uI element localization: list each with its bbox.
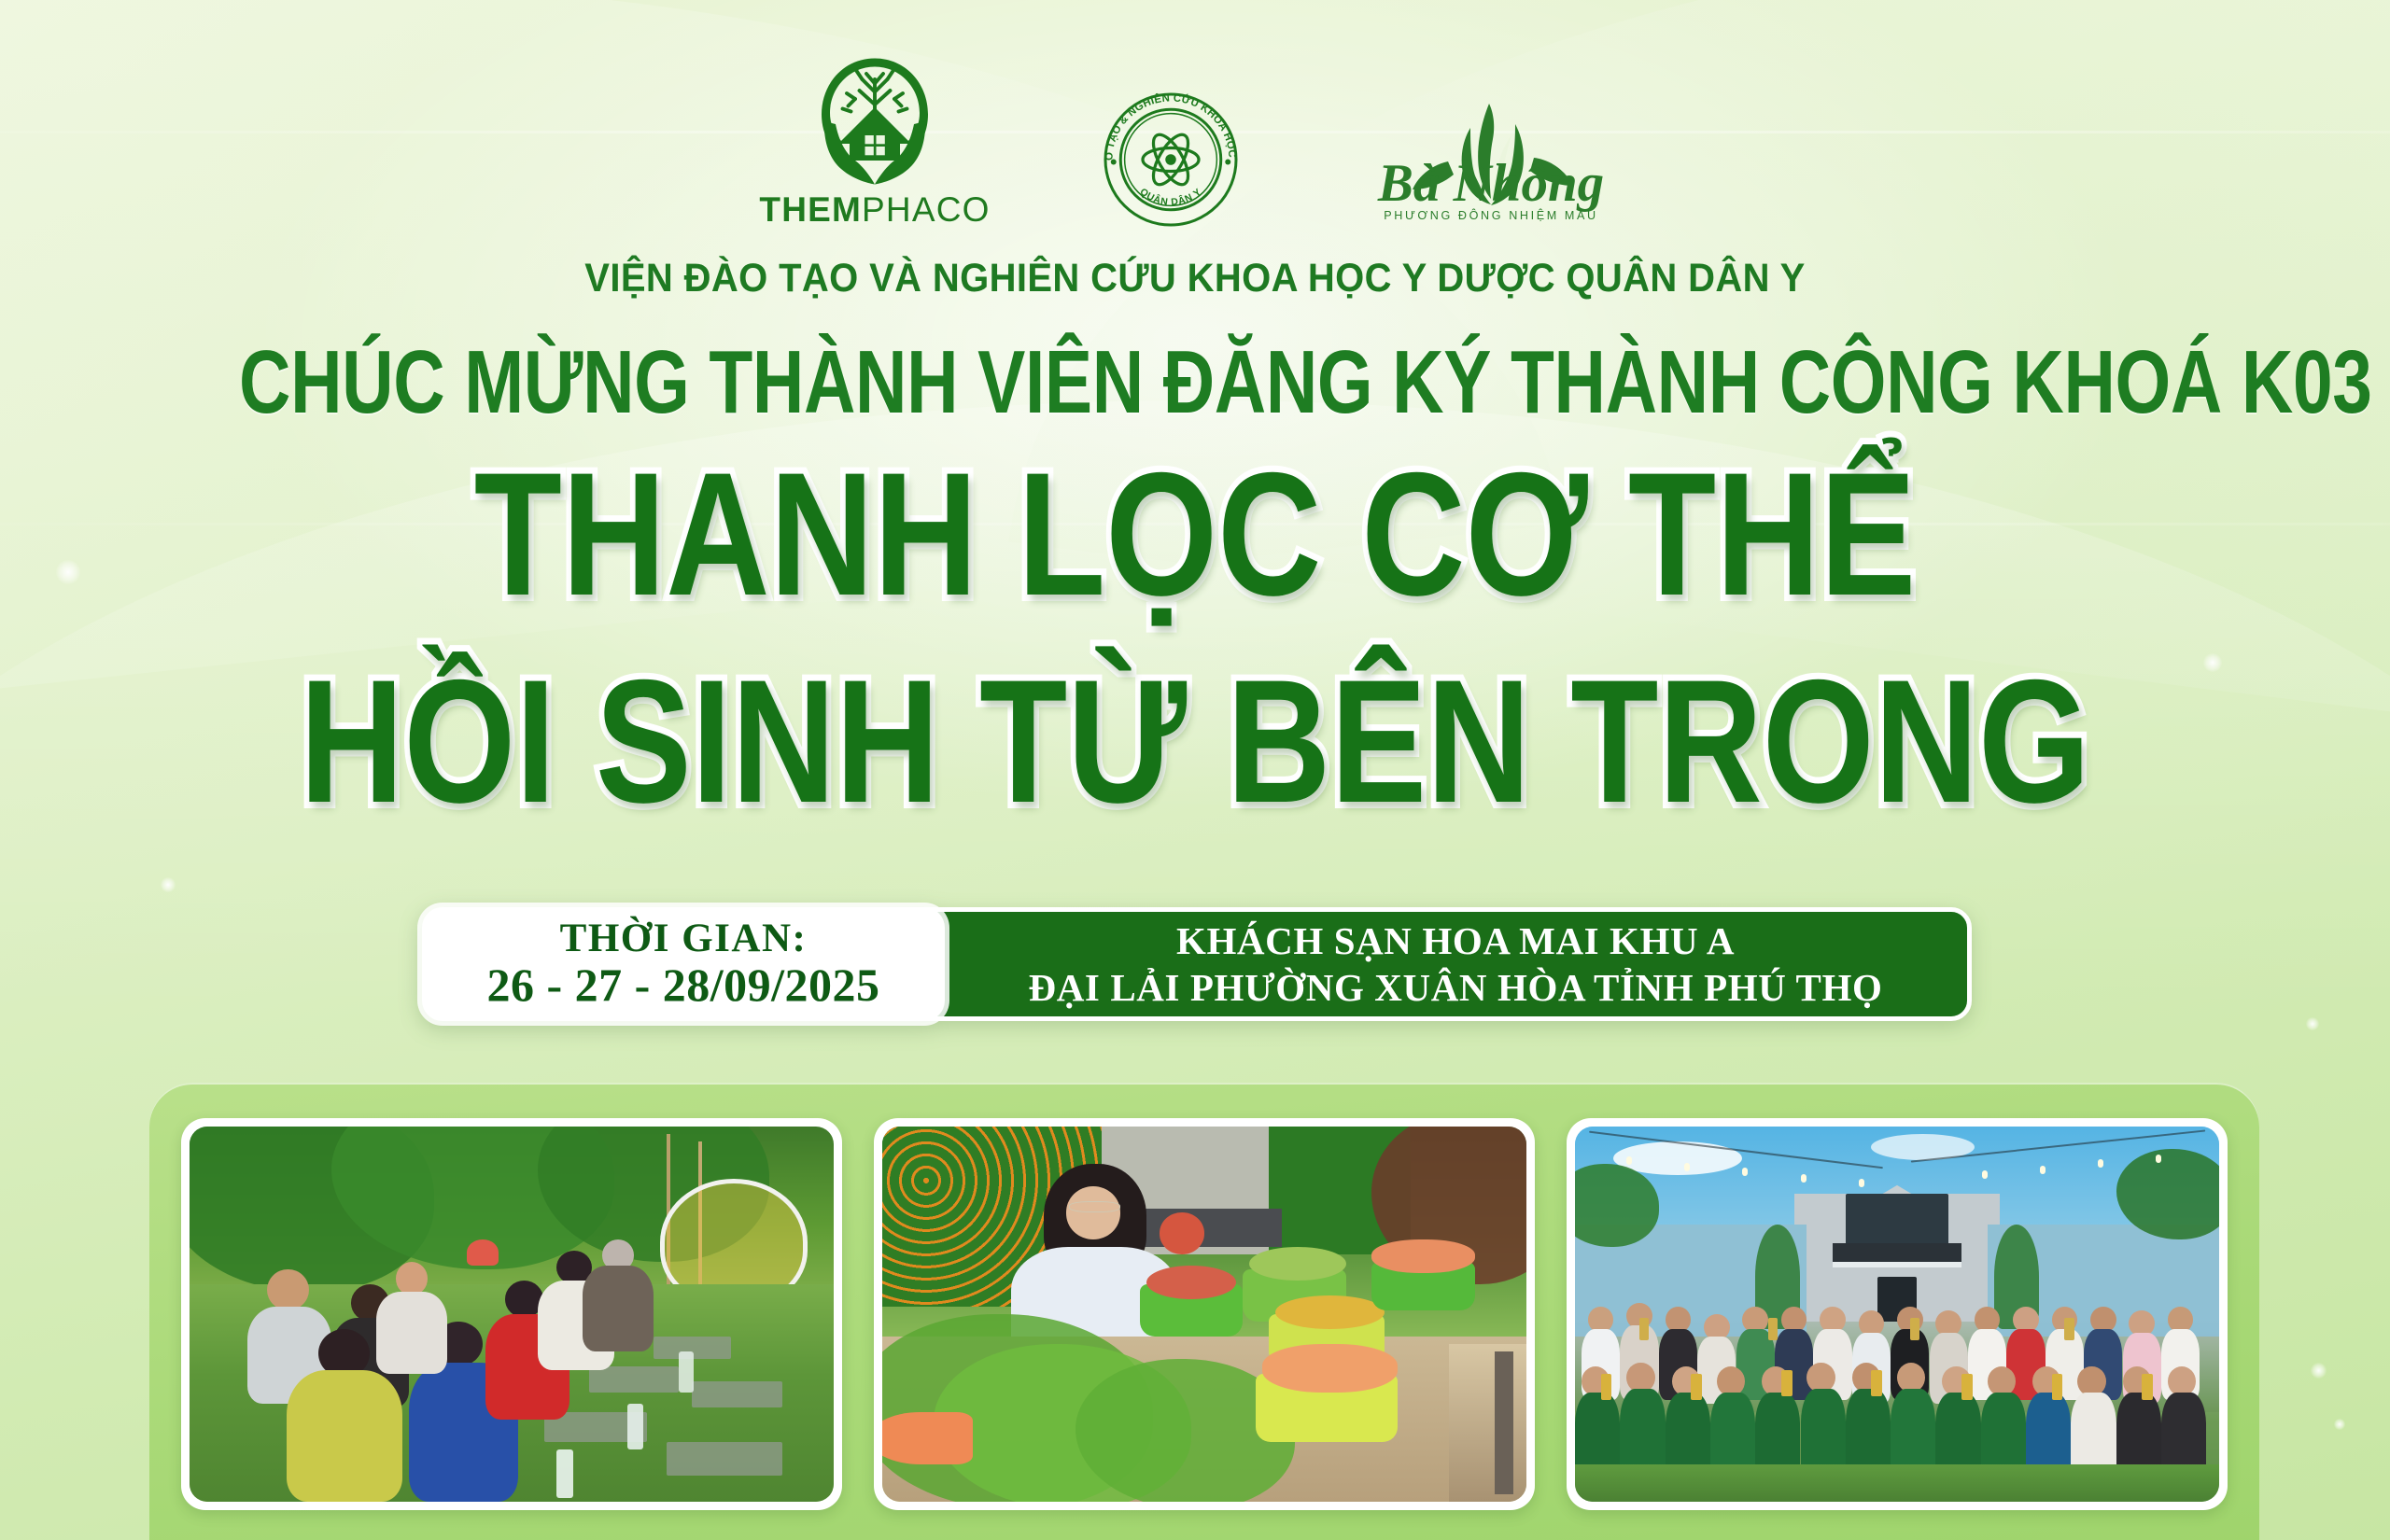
photo-fresh-produce-image: [882, 1127, 1526, 1502]
sparkle-icon: [2311, 1363, 2327, 1379]
main-headline-line2: HỒI SINH TỪ BÊN TRONG: [215, 653, 2174, 829]
poster-canvas: THEMPHACO VIỆN ĐÀO TẠO & NGHIÊN CỨU KHOA…: [0, 0, 2390, 1540]
venue-line-2: ĐẠI LẢI PHƯỜNG XUÂN HÒA TỈNH PHÚ THỌ: [1029, 964, 1883, 1011]
tree-house-in-hands-icon: [805, 49, 945, 189]
photo-fresh-produce: [874, 1118, 1535, 1510]
sparkle-icon: [2334, 1419, 2345, 1430]
sparkle-icon: [56, 560, 80, 584]
institute-name-line: VIỆN ĐÀO TẠO VÀ NGHIÊN CỨU KHOA HỌC Y DƯ…: [84, 256, 2307, 301]
venue-line-1: KHÁCH SẠN HOA MAI KHU A: [1176, 917, 1735, 964]
themphaco-wordmark: THEMPHACO: [759, 190, 990, 230]
photo-meditation-group: [181, 1118, 842, 1510]
event-venue-banner: KHÁCH SẠN HOA MAI KHU A ĐẠI LẢI PHƯỜNG X…: [902, 907, 1972, 1021]
photo-group-portrait-image: [1575, 1127, 2219, 1502]
time-label: THỜI GIAN:: [560, 917, 808, 959]
congrats-headline: CHÚC MỪNG THÀNH VIÊN ĐĂNG KÝ THÀNH CÔNG …: [239, 338, 2151, 427]
photo-group-portrait: [1567, 1118, 2228, 1510]
banhong-logo: Bà Nhông PHƯƠNG ĐÔNG NHIỆM MẦU: [1351, 100, 1631, 230]
banhong-tagline: PHƯƠNG ĐÔNG NHIỆM MẦU: [1384, 208, 1597, 222]
atom-seal-icon: VIỆN ĐÀO TẠO & NGHIÊN CỨU KHOA HỌC Y DƯỢ…: [1101, 90, 1241, 230]
main-headline-line1: THANH LỌC CƠ THỂ: [215, 446, 2174, 622]
logo-row: THEMPHACO VIỆN ĐÀO TẠO & NGHIÊN CỨU KHOA…: [0, 49, 2390, 230]
time-value: 26 - 27 - 28/09/2025: [486, 959, 879, 1011]
institute-seal-logo: VIỆN ĐÀO TẠO & NGHIÊN CỨU KHOA HỌC Y DƯỢ…: [1101, 90, 1241, 230]
themphaco-logo: THEMPHACO: [759, 49, 990, 230]
sparkle-icon: [2306, 1017, 2319, 1030]
sparkle-icon: [161, 877, 176, 892]
themphaco-wordmark-light: PHACO: [862, 190, 991, 229]
photo-strip: [149, 1083, 2259, 1540]
event-time-pill: THỜI GIAN: 26 - 27 - 28/09/2025: [422, 907, 945, 1021]
photo-meditation-group-image: [190, 1127, 834, 1502]
banhong-wordmark: Bà Nhông: [1376, 154, 1603, 213]
sparkle-icon: [2203, 653, 2222, 672]
event-info-bar: THỜI GIAN: 26 - 27 - 28/09/2025 KHÁCH SẠ…: [422, 907, 1972, 1021]
themphaco-wordmark-bold: THEM: [759, 190, 862, 229]
leaf-script-icon: Bà Nhông PHƯƠNG ĐÔNG NHIỆM MẦU: [1351, 100, 1631, 226]
